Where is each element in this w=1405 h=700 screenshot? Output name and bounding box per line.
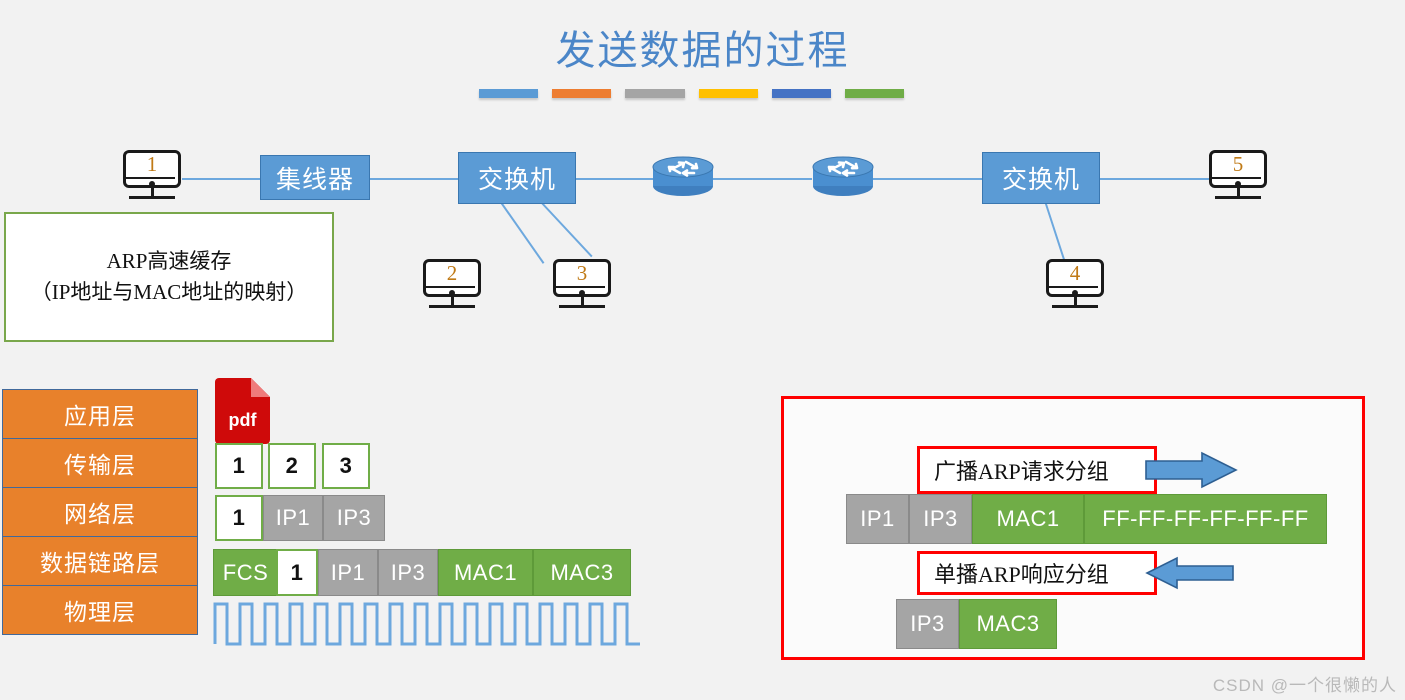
- hub-node[interactable]: 集线器: [260, 155, 370, 200]
- router-2[interactable]: [808, 153, 878, 201]
- monitor-divider: [125, 177, 175, 179]
- packet-field-ip3: IP3: [323, 495, 385, 541]
- title-bar-2: [552, 89, 611, 98]
- host-4[interactable]: 4: [1046, 259, 1104, 315]
- monitor-divider: [555, 286, 605, 288]
- monitor-dot: [1072, 290, 1078, 296]
- title-bar-1: [479, 89, 538, 98]
- osi-layer-stack: 应用层 传输层 网络层 数据链路层 物理层: [2, 389, 198, 634]
- layer-datalink[interactable]: 数据链路层: [2, 536, 198, 586]
- host-number: 1: [123, 152, 181, 177]
- switch-right-node[interactable]: 交换机: [982, 152, 1100, 204]
- monitor-base: [129, 196, 175, 199]
- segment-3: 3: [322, 443, 370, 489]
- host-3[interactable]: 3: [553, 259, 611, 315]
- segment-1: 1: [215, 443, 263, 489]
- link-switch-left-host2: [499, 200, 544, 263]
- title-bar-5: [772, 89, 831, 98]
- title-bar-6: [845, 89, 904, 98]
- pdf-icon-fold: [251, 378, 270, 397]
- page-title: 发送数据的过程: [0, 18, 1405, 76]
- host-number: 2: [423, 261, 481, 286]
- segment-2: 2: [268, 443, 316, 489]
- arp-cache-line-1: ARP高速缓存: [107, 246, 232, 278]
- arp-cache-line-2: （IP地址与MAC地址的映射）: [31, 277, 308, 309]
- physical-signal-wave: [213, 598, 643, 646]
- host-number: 5: [1209, 152, 1267, 177]
- router-icon: [648, 153, 718, 201]
- frame-field-ip1: IP1: [318, 549, 378, 596]
- arp-panel: 广播ARP请求分组 IP1 IP3 MAC1 FF-FF-FF-FF-FF-FF…: [781, 396, 1365, 660]
- link-host1-hub: [182, 178, 260, 180]
- arp-reply-field-ip3: IP3: [896, 599, 959, 649]
- slide-canvas: 发送数据的过程 1 集线器 交换机: [0, 0, 1405, 700]
- router-icon: [808, 153, 878, 201]
- arp-reply-field-mac3: MAC3: [959, 599, 1057, 649]
- router-1[interactable]: [648, 153, 718, 201]
- layer-physical[interactable]: 物理层: [2, 585, 198, 635]
- arp-cache-box: ARP高速缓存 （IP地址与MAC地址的映射）: [4, 212, 334, 342]
- arp-request-field-ip1: IP1: [846, 494, 909, 544]
- layer-network[interactable]: 网络层: [2, 487, 198, 537]
- link-switch-left-router1: [575, 178, 653, 180]
- arp-request-label: 广播ARP请求分组: [917, 446, 1157, 494]
- link-router2-switch-right: [872, 178, 982, 180]
- frame-field-mac3: MAC3: [533, 549, 631, 596]
- monitor-divider: [1048, 286, 1098, 288]
- host-2[interactable]: 2: [423, 259, 481, 315]
- link-hub-switch-left: [368, 178, 460, 180]
- pdf-icon-label: pdf: [215, 410, 270, 431]
- monitor-base: [1052, 305, 1098, 308]
- link-router1-router2: [712, 178, 812, 180]
- monitor-dot: [149, 181, 155, 187]
- arp-request-arrow-icon: [1144, 451, 1239, 494]
- frame-field-ip3: IP3: [378, 549, 438, 596]
- monitor-divider: [425, 286, 475, 288]
- title-bar-3: [625, 89, 684, 98]
- monitor-base: [1215, 196, 1261, 199]
- arp-request-field-mac1: MAC1: [972, 494, 1084, 544]
- title-decoration-bars: [479, 89, 904, 99]
- monitor-dot: [1235, 181, 1241, 187]
- arp-request-field-broadcast: FF-FF-FF-FF-FF-FF: [1084, 494, 1327, 544]
- host-1[interactable]: 1: [123, 150, 181, 206]
- pdf-file-icon: pdf: [215, 378, 270, 444]
- title-bar-4: [699, 89, 758, 98]
- host-5[interactable]: 5: [1209, 150, 1267, 206]
- layer-application[interactable]: 应用层: [2, 389, 198, 439]
- host-number: 3: [553, 261, 611, 286]
- monitor-base: [429, 305, 475, 308]
- frame-field-fcs: FCS: [213, 549, 278, 596]
- monitor-base: [559, 305, 605, 308]
- frame-field-mac1: MAC1: [438, 549, 533, 596]
- layer-transport[interactable]: 传输层: [2, 438, 198, 488]
- square-wave-icon: [213, 598, 643, 646]
- watermark: CSDN @一个很懒的人: [1213, 671, 1397, 696]
- link-switch-right-host5: [1100, 178, 1210, 180]
- monitor-dot: [449, 290, 455, 296]
- frame-field-payload: 1: [276, 549, 318, 596]
- packet-field-ip1: IP1: [263, 495, 323, 541]
- arp-reply-label: 单播ARP响应分组: [917, 551, 1157, 595]
- arp-reply-arrow-icon: [1145, 556, 1235, 595]
- link-switch-left-host3: [539, 200, 592, 257]
- arp-request-field-ip3: IP3: [909, 494, 972, 544]
- monitor-dot: [579, 290, 585, 296]
- packet-field-payload: 1: [215, 495, 263, 541]
- host-number: 4: [1046, 261, 1104, 286]
- monitor-divider: [1211, 177, 1261, 179]
- switch-left-node[interactable]: 交换机: [458, 152, 576, 204]
